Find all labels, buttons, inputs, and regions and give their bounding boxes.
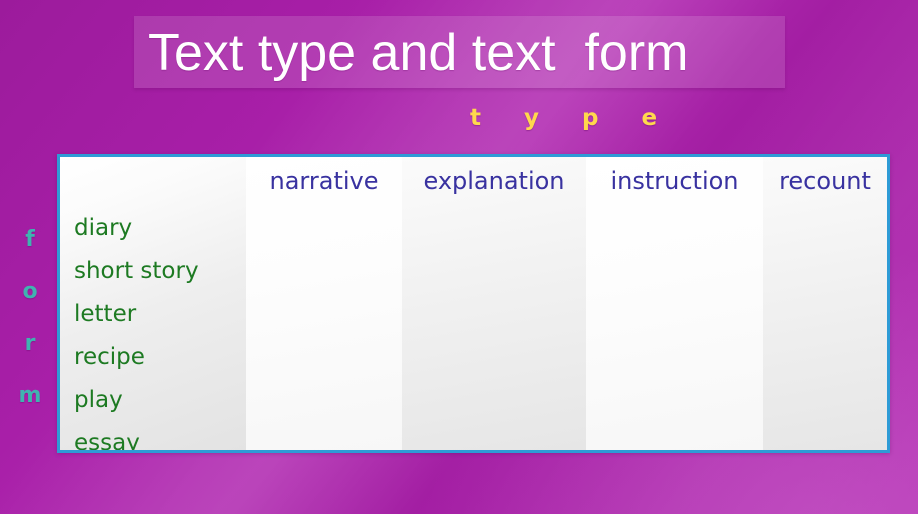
grid-column-recount[interactable]: recount xyxy=(763,157,887,450)
list-item[interactable]: play xyxy=(74,379,199,422)
axis-label-type: t y p e xyxy=(470,105,666,131)
list-item[interactable]: essay xyxy=(74,422,199,453)
axis-label-form-letter: f xyxy=(13,214,47,266)
grid-column-instruction[interactable]: instruction xyxy=(586,157,763,450)
axis-label-form: f o r m xyxy=(13,214,47,422)
grid-column-header-narrative: narrative xyxy=(246,167,402,195)
list-item[interactable]: recipe xyxy=(74,336,199,379)
slide-canvas: Text type and text form t y p e f o r m … xyxy=(0,0,918,514)
axis-label-form-letter: r xyxy=(13,318,47,370)
axis-label-form-letter: m xyxy=(13,370,47,422)
text-type-form-grid: diary short story letter recipe play ess… xyxy=(57,154,890,453)
list-item[interactable]: letter xyxy=(74,293,199,336)
form-label-list: diary short story letter recipe play ess… xyxy=(74,207,199,453)
list-item[interactable]: short story xyxy=(74,250,199,293)
grid-column-form-labels: diary short story letter recipe play ess… xyxy=(60,157,246,450)
grid-column-header-explanation: explanation xyxy=(402,167,586,195)
axis-label-form-letter: o xyxy=(13,266,47,318)
grid-column-narrative[interactable]: narrative xyxy=(246,157,402,450)
page-title: Text type and text form xyxy=(148,17,778,89)
grid-column-explanation[interactable]: explanation xyxy=(402,157,586,450)
grid-column-header-recount: recount xyxy=(763,167,887,195)
grid-column-header-instruction: instruction xyxy=(586,167,763,195)
list-item[interactable]: diary xyxy=(74,207,199,250)
